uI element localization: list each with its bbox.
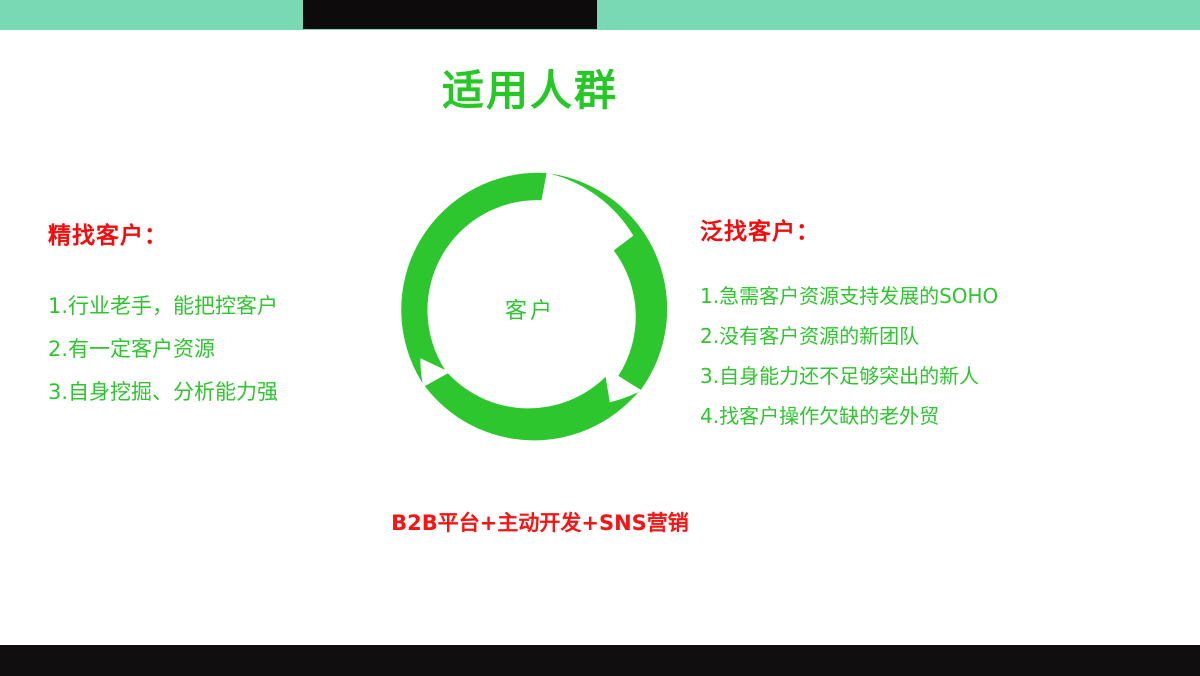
list-item: 4.找客户操作欠缺的老外贸 [700,406,1120,426]
right-column-heading: 泛找客户： [700,218,1120,248]
cycle-arrows-graphic [393,172,667,446]
left-column-heading: 精找客户： [48,222,378,252]
page-title: 适用人群 [0,66,1060,116]
bottom-accent-bar-black [0,645,1200,676]
bottom-caption: B2B平台+主动开发+SNS营销 [330,507,750,537]
top-accent-block-black [303,0,597,29]
right-text-column: 泛找客户： 1.急需客户资源支持发展的SOHO 2.没有客户资源的新团队 3.自… [700,218,1120,446]
cycle-inner-disc [450,229,610,389]
slide-canvas: 适用人群 精找客户： 1.行业老手，能把控客户 2.有一定客户资源 3.自身挖掘… [0,0,1200,676]
left-text-column: 精找客户： 1.行业老手，能把控客户 2.有一定客户资源 3.自身挖掘、分析能力… [48,222,378,425]
top-accent-bar-green [0,0,1200,30]
list-item: 2.没有客户资源的新团队 [700,326,1120,346]
right-bullet-list: 1.急需客户资源支持发展的SOHO 2.没有客户资源的新团队 3.自身能力还不足… [700,286,1120,426]
list-item: 3.自身挖掘、分析能力强 [48,382,378,403]
left-bullet-list: 1.行业老手，能把控客户 2.有一定客户资源 3.自身挖掘、分析能力强 [48,296,378,403]
list-item: 2.有一定客户资源 [48,339,378,360]
list-item: 3.自身能力还不足够突出的新人 [700,366,1120,386]
cycle-diagram: 客户 [393,172,667,446]
list-item: 1.急需客户资源支持发展的SOHO [700,286,1120,306]
list-item: 1.行业老手，能把控客户 [48,296,378,317]
